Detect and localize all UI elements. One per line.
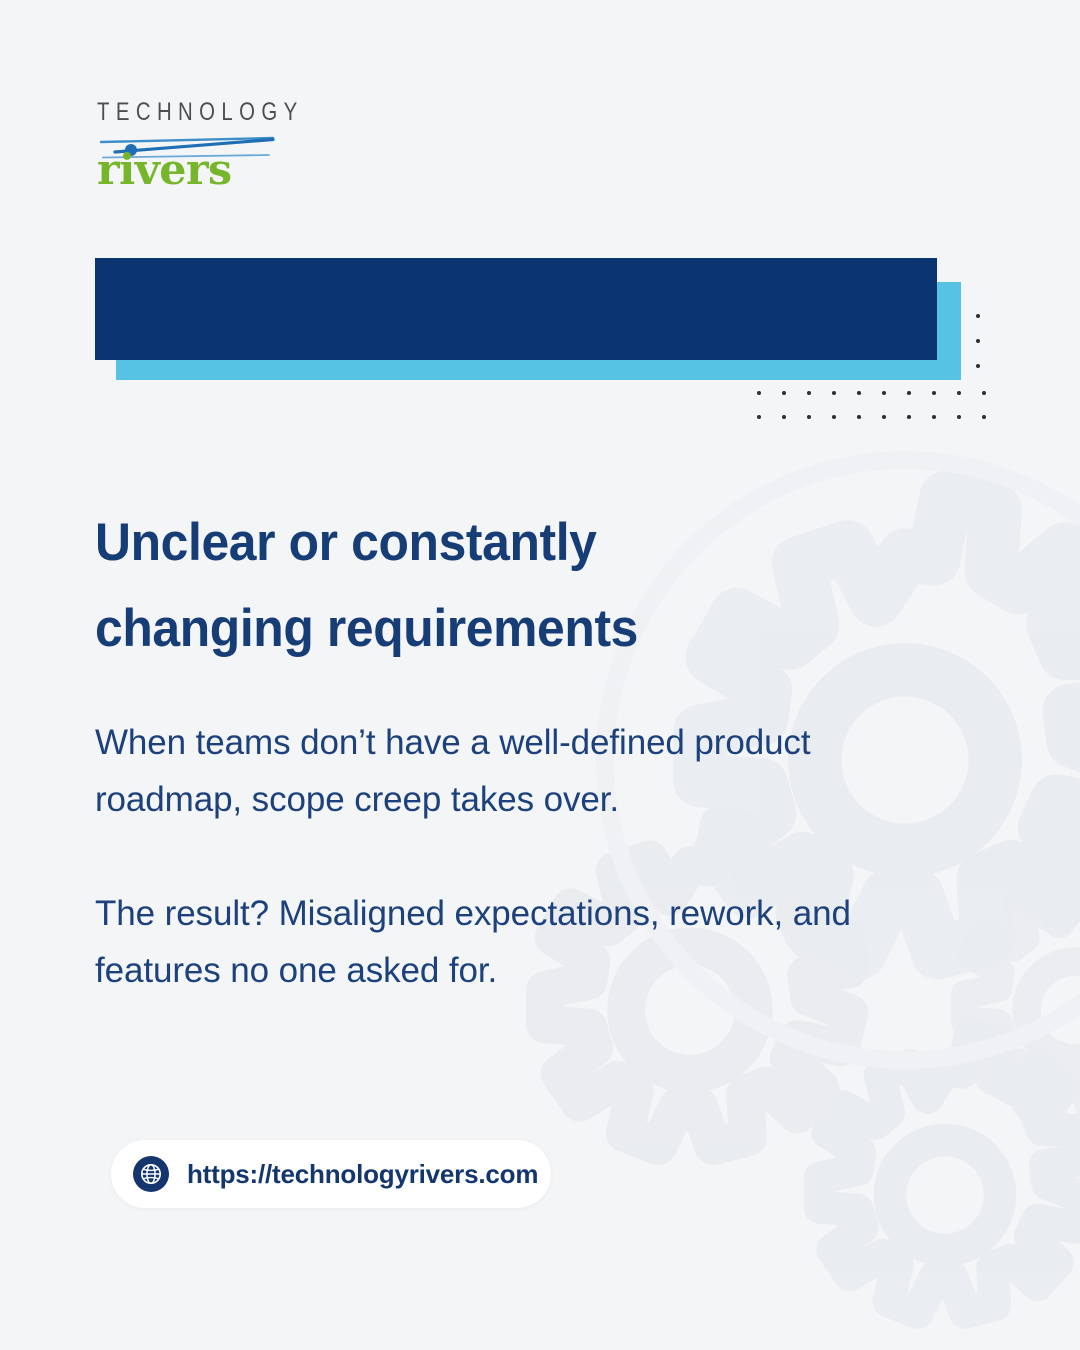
logo-word-technology: TECHNOLOGY — [97, 100, 320, 125]
headline-line-2: changing requirements — [95, 586, 791, 672]
body-paragraph-2: The result? Misaligned expectations, rew… — [95, 885, 855, 999]
headline-line-1: Unclear or constantly — [95, 500, 791, 586]
logo-word-rivers: rivers — [97, 149, 232, 191]
body-paragraph-1: When teams don’t have a well-defined pro… — [95, 714, 855, 828]
website-url-text: https://technologyrivers.com — [187, 1159, 538, 1190]
globe-icon — [133, 1156, 169, 1192]
body-copy: When teams don’t have a well-defined pro… — [95, 714, 855, 999]
brand-logo[interactable]: TECHNOLOGY rivers — [97, 100, 327, 192]
poster-canvas: TECHNOLOGY rivers — [0, 0, 1080, 1350]
page-title: Unclear or constantly changing requireme… — [95, 500, 791, 672]
hero-banner — [0, 0, 1080, 450]
dot-grid-bottom — [757, 391, 997, 423]
website-url-pill[interactable]: https://technologyrivers.com — [111, 1140, 551, 1208]
banner-primary-shape — [95, 258, 937, 360]
